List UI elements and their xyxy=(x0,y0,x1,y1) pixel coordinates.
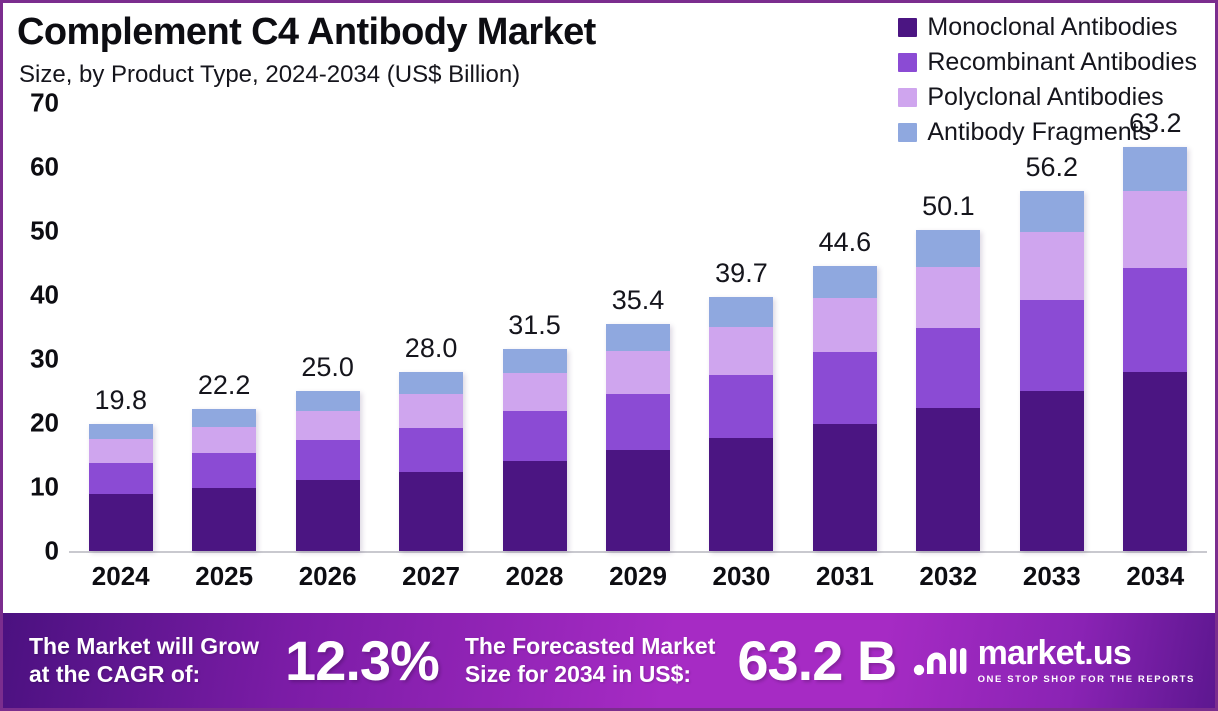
bar-segment[interactable] xyxy=(399,428,463,473)
x-axis-tick: 2026 xyxy=(299,561,357,592)
legend-label: Recombinant Antibodies xyxy=(927,48,1197,77)
x-axis-tick: 2033 xyxy=(1023,561,1081,592)
bar-segment[interactable] xyxy=(813,298,877,352)
y-axis-tick: 60 xyxy=(30,152,59,183)
stacked-bar[interactable] xyxy=(1020,191,1084,551)
bar-segment[interactable] xyxy=(399,394,463,427)
bar-segment[interactable] xyxy=(1020,391,1084,551)
page-title: Complement C4 Antibody Market xyxy=(17,11,596,54)
cagr-value: 12.3% xyxy=(285,628,439,693)
stacked-bar[interactable] xyxy=(503,349,567,551)
bar-segment[interactable] xyxy=(606,450,670,551)
bar-value-label: 50.1 xyxy=(922,191,975,222)
logo-tagline: ONE STOP SHOP FOR THE REPORTS xyxy=(978,674,1195,685)
y-axis-tick: 0 xyxy=(45,536,59,567)
bar-segment[interactable] xyxy=(1020,232,1084,300)
forecast-label: The Forecasted MarketSize for 2034 in US… xyxy=(465,633,716,688)
bar-segment[interactable] xyxy=(296,480,360,551)
legend-swatch-icon xyxy=(898,18,917,37)
page-subtitle: Size, by Product Type, 2024-2034 (US$ Bi… xyxy=(19,61,520,89)
legend-item[interactable]: Recombinant Antibodies xyxy=(898,46,1197,79)
x-axis-tick: 2031 xyxy=(816,561,874,592)
legend-swatch-icon xyxy=(898,53,917,72)
bar-segment[interactable] xyxy=(296,411,360,440)
bar-value-label: 19.8 xyxy=(94,385,147,416)
bar-segment[interactable] xyxy=(709,375,773,438)
bar-value-label: 28.0 xyxy=(405,333,458,364)
x-axis-tick: 2027 xyxy=(402,561,460,592)
x-axis-tick: 2028 xyxy=(506,561,564,592)
logo-mark-icon xyxy=(912,636,968,685)
bar-segment[interactable] xyxy=(813,352,877,424)
bar-segment[interactable] xyxy=(606,351,670,394)
bar-segment[interactable] xyxy=(89,424,153,439)
stacked-bar[interactable] xyxy=(1123,147,1187,551)
bar-value-label: 35.4 xyxy=(612,285,665,316)
bar-segment[interactable] xyxy=(503,461,567,551)
legend-item[interactable]: Monoclonal Antibodies xyxy=(898,11,1177,44)
bar-group[interactable]: 44.62031 xyxy=(793,103,896,551)
stacked-bar[interactable] xyxy=(709,297,773,551)
bar-segment[interactable] xyxy=(1020,191,1084,232)
bar-segment[interactable] xyxy=(1123,268,1187,372)
x-axis-tick: 2025 xyxy=(195,561,253,592)
cagr-label: The Market will Growat the CAGR of: xyxy=(29,633,259,688)
y-axis-tick: 70 xyxy=(30,88,59,119)
bar-segment[interactable] xyxy=(1020,300,1084,391)
bar-value-label: 22.2 xyxy=(198,370,251,401)
bar-segment[interactable] xyxy=(1123,372,1187,551)
bar-segment[interactable] xyxy=(503,349,567,373)
bar-value-label: 25.0 xyxy=(301,352,354,383)
y-axis-tick: 50 xyxy=(30,216,59,247)
y-axis-tick: 20 xyxy=(30,408,59,439)
bar-value-label: 31.5 xyxy=(508,310,561,341)
bar-group[interactable]: 31.52028 xyxy=(483,103,586,551)
bar-group[interactable]: 28.02027 xyxy=(379,103,482,551)
stacked-bar[interactable] xyxy=(296,391,360,551)
stacked-bar[interactable] xyxy=(606,324,670,551)
bar-segment[interactable] xyxy=(192,427,256,453)
stacked-bar[interactable] xyxy=(192,409,256,551)
market-us-logo[interactable]: market.us ONE STOP SHOP FOR THE REPORTS xyxy=(912,636,1195,685)
bar-segment[interactable] xyxy=(709,438,773,551)
bar-segment[interactable] xyxy=(813,266,877,299)
x-axis-tick: 2024 xyxy=(92,561,150,592)
bar-segment[interactable] xyxy=(503,373,567,411)
bar-segment[interactable] xyxy=(813,424,877,551)
bar-segment[interactable] xyxy=(89,439,153,463)
bar-segment[interactable] xyxy=(606,394,670,450)
x-axis-baseline xyxy=(69,551,1207,553)
logo-name: market.us xyxy=(978,636,1195,670)
stacked-bar[interactable] xyxy=(916,230,980,551)
plot-area: 706050403020100 19.8202422.2202525.02026… xyxy=(3,103,1215,608)
bar-group[interactable]: 56.22033 xyxy=(1000,103,1103,551)
x-axis-tick: 2034 xyxy=(1126,561,1184,592)
bar-group[interactable]: 35.42029 xyxy=(586,103,689,551)
bar-value-label: 44.6 xyxy=(819,227,872,258)
bar-group[interactable]: 50.12032 xyxy=(897,103,1000,551)
bar-segment[interactable] xyxy=(916,230,980,266)
bar-segment[interactable] xyxy=(916,267,980,328)
stats-banner: The Market will Growat the CAGR of: 12.3… xyxy=(3,613,1215,708)
bar-value-label: 63.2 xyxy=(1129,108,1182,139)
bar-segment[interactable] xyxy=(192,488,256,551)
bar-group[interactable]: 22.22025 xyxy=(172,103,275,551)
bar-segment[interactable] xyxy=(296,391,360,411)
bar-segment[interactable] xyxy=(1123,191,1187,267)
bar-segment[interactable] xyxy=(709,297,773,327)
stacked-bar[interactable] xyxy=(399,372,463,551)
y-axis-tick: 30 xyxy=(30,344,59,375)
bar-value-label: 56.2 xyxy=(1026,152,1079,183)
bar-segment[interactable] xyxy=(89,494,153,551)
bar-series-container: 19.8202422.2202525.0202628.0202731.52028… xyxy=(69,103,1207,551)
x-axis-tick: 2030 xyxy=(713,561,771,592)
forecast-value: 63.2 B xyxy=(737,628,896,693)
bar-segment[interactable] xyxy=(606,324,670,350)
bar-group[interactable]: 25.02026 xyxy=(276,103,379,551)
y-axis-tick: 40 xyxy=(30,280,59,311)
bar-value-label: 39.7 xyxy=(715,258,768,289)
bar-segment[interactable] xyxy=(709,327,773,375)
logo-text: market.us ONE STOP SHOP FOR THE REPORTS xyxy=(978,636,1195,685)
bar-group[interactable]: 39.72030 xyxy=(690,103,793,551)
bar-segment[interactable] xyxy=(1123,147,1187,192)
bar-segment[interactable] xyxy=(916,408,980,551)
bar-segment[interactable] xyxy=(296,440,360,480)
bar-segment[interactable] xyxy=(916,328,980,409)
bar-segment[interactable] xyxy=(399,372,463,394)
bar-group[interactable]: 19.82024 xyxy=(69,103,172,551)
bar-segment[interactable] xyxy=(192,453,256,488)
bar-group[interactable]: 63.22034 xyxy=(1104,103,1207,551)
y-axis-tick: 10 xyxy=(30,472,59,503)
bar-segment[interactable] xyxy=(399,472,463,551)
stacked-bar[interactable] xyxy=(89,424,153,551)
stacked-bar[interactable] xyxy=(813,266,877,551)
x-axis-tick: 2029 xyxy=(609,561,667,592)
legend-label: Monoclonal Antibodies xyxy=(927,13,1177,42)
bar-segment[interactable] xyxy=(503,411,567,462)
y-axis: 706050403020100 xyxy=(3,103,67,551)
bar-segment[interactable] xyxy=(89,463,153,494)
chart-infographic: Complement C4 Antibody Market Size, by P… xyxy=(0,0,1218,711)
bar-segment[interactable] xyxy=(192,409,256,427)
x-axis-tick: 2032 xyxy=(919,561,977,592)
